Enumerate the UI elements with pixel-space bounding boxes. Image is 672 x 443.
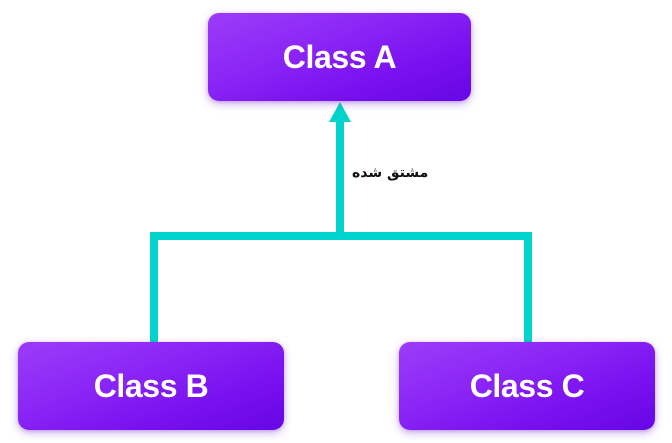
connector-sibling-bar (150, 232, 532, 240)
connector-drop-to-class-c (524, 232, 532, 344)
class-node-label: Class B (94, 370, 209, 402)
class-node-class-a[interactable]: Class A (208, 13, 471, 101)
class-node-class-b[interactable]: Class B (18, 342, 284, 430)
connector-stem-to-parent (336, 121, 344, 239)
class-diagram-canvas: Class A مشتق شده Class B Class C (0, 0, 672, 443)
class-node-class-c[interactable]: Class C (399, 342, 655, 430)
connector-drop-to-class-b (150, 232, 158, 344)
inheritance-relationship-label: مشتق شده (352, 165, 428, 182)
class-node-label: Class C (470, 370, 585, 402)
inheritance-arrow-icon (329, 102, 351, 122)
class-node-label: Class A (283, 41, 396, 73)
